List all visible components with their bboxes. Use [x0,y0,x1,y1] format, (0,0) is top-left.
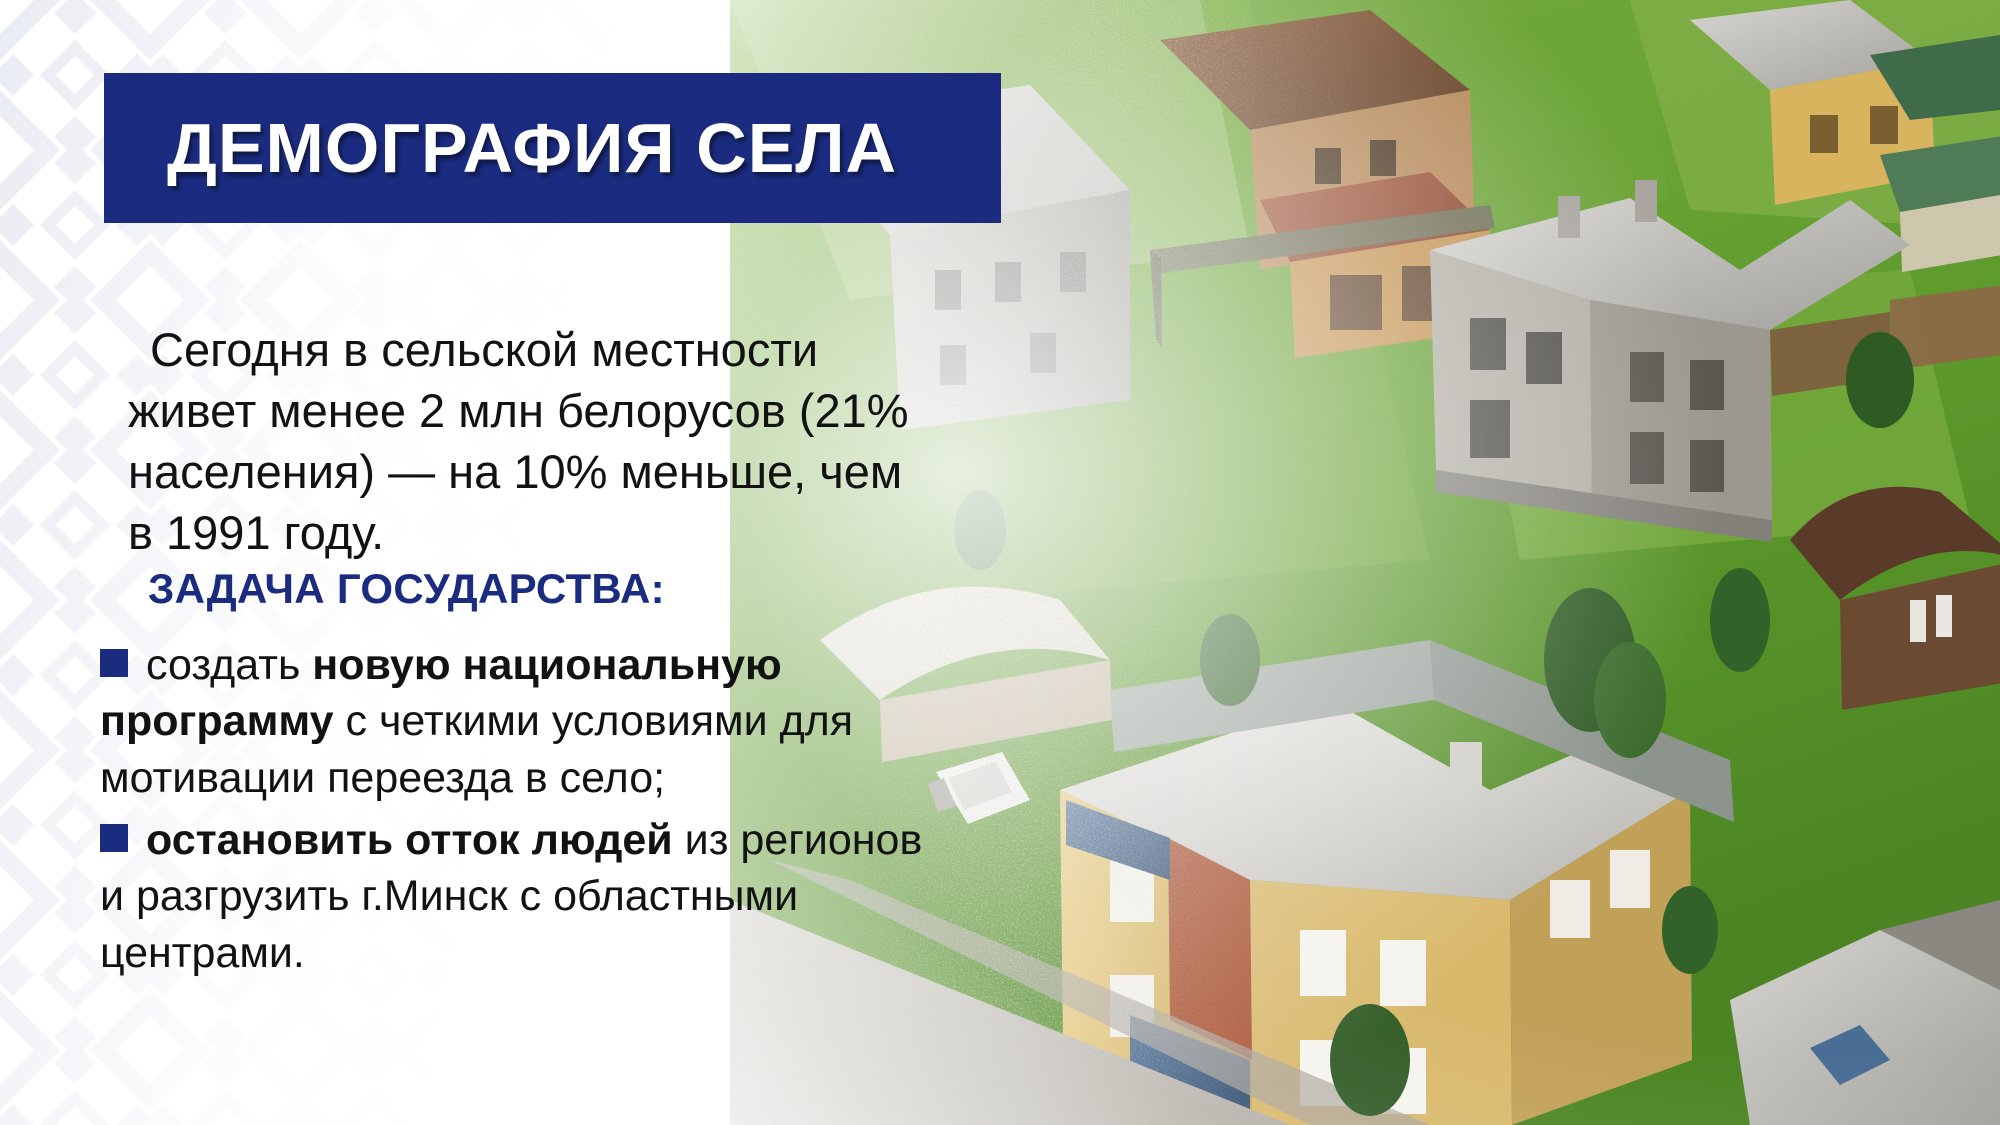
fence-lines [1150,205,2000,396]
list-item: остановить отток людей из регионов и раз… [100,812,930,981]
title-banner: ДЕМОГРАФИЯ СЕЛА [104,73,1001,223]
slide-content: ДЕМОГРАФИЯ СЕЛА Сегодня в сельской местн… [0,0,1060,1125]
bullet-text-2: остановить отток людей из регионов и раз… [100,816,922,977]
house-upper-mid [1160,10,1492,358]
section-heading: ЗАДАЧА ГОСУДАРСТВА: [148,565,665,613]
list-item: создать новую национальную программу с ч… [100,637,930,806]
house-upper-right [1690,0,2000,205]
concrete-fence [1110,640,1734,822]
bullet-segment: создать [146,641,312,689]
bullet-text-1: создать новую национальную программу с ч… [100,641,853,802]
page-title: ДЕМОГРАФИЯ СЕЛА [167,113,897,183]
barn-dark-roof [1790,487,2000,710]
lead-paragraph: Сегодня в сельской местности живет менее… [128,319,918,563]
slide-root: ДЕМОГРАФИЯ СЕЛА Сегодня в сельской местн… [0,0,2000,1125]
square-bullet-icon [100,824,128,852]
task-bullet-list: создать новую национальную программу с ч… [100,637,930,987]
house-center-unfinished [1430,180,1910,542]
outbuilding-green-roof [1880,135,2000,272]
bullet-segment-bold: остановить отток людей [146,816,673,864]
house-front-yellow [1060,700,1692,1125]
house-right-front [1730,900,2000,1125]
square-bullet-icon [100,649,128,677]
trees [954,332,1914,1116]
